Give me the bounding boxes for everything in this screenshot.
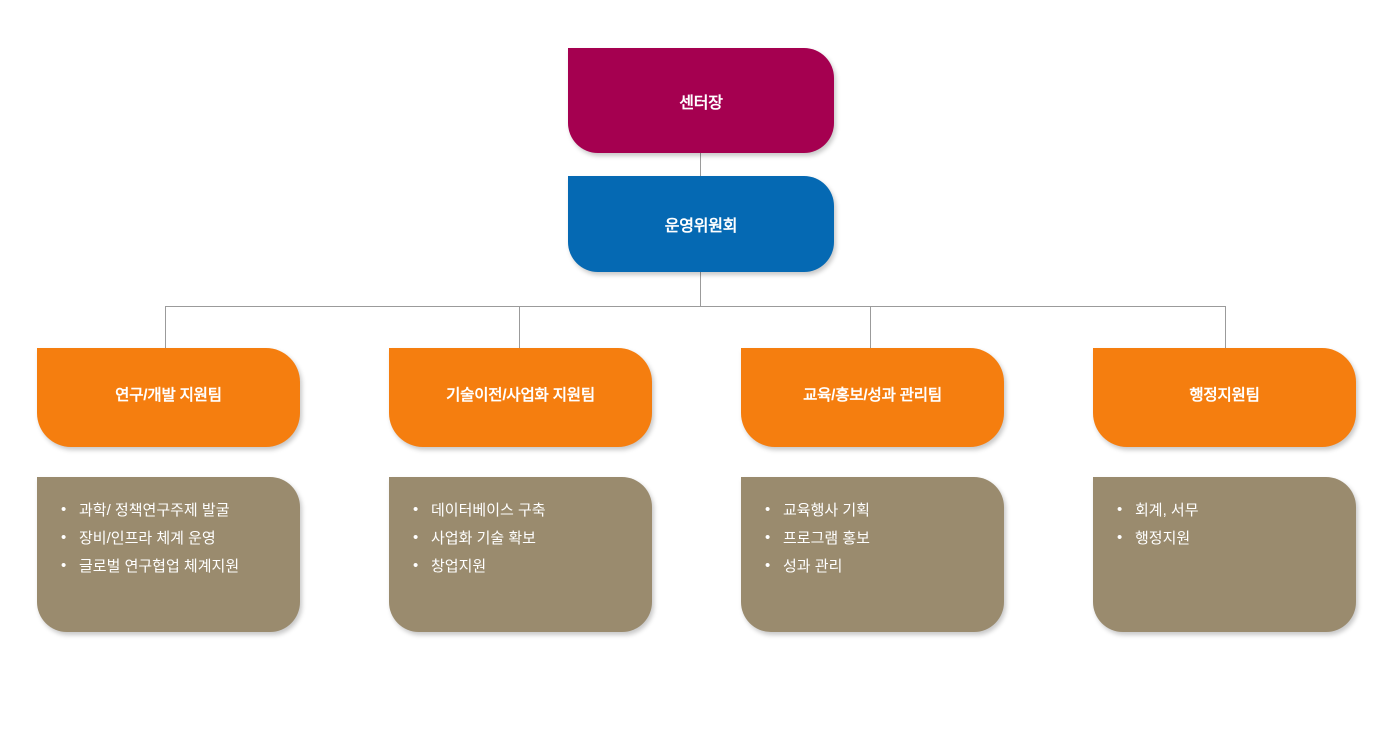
connector-horizontal-bus [165, 306, 1226, 307]
connector-drop-team-2 [519, 306, 520, 349]
list-item: 교육행사 기획 [763, 497, 990, 525]
list-item: 회계, 서무 [1115, 497, 1342, 525]
duty-list: 교육행사 기획 프로그램 홍보 성과 관리 [763, 497, 990, 581]
duty-list: 데이터베이스 구축 사업화 기술 확보 창업지원 [411, 497, 638, 581]
node-team-education-pr-label: 교육/홍보/성과 관리팀 [803, 383, 942, 405]
list-item: 프로그램 홍보 [763, 525, 990, 553]
list-item: 데이터베이스 구축 [411, 497, 638, 525]
duty-list: 회계, 서무 행정지원 [1115, 497, 1342, 553]
list-item: 행정지원 [1115, 525, 1342, 553]
node-team-tech-transfer[interactable]: 기술이전/사업화 지원팀 [389, 348, 652, 447]
list-item: 창업지원 [411, 553, 638, 581]
node-team-administration-label: 행정지원팀 [1189, 383, 1259, 405]
node-team-tech-transfer-label: 기술이전/사업화 지원팀 [446, 383, 595, 405]
list-item: 과학/ 정책연구주제 발굴 [59, 497, 286, 525]
connector-committee-stem [700, 272, 701, 306]
node-committee[interactable]: 운영위원회 [568, 176, 834, 272]
connector-drop-team-1 [165, 306, 166, 349]
list-item: 사업화 기술 확보 [411, 525, 638, 553]
connector-drop-team-3 [870, 306, 871, 349]
node-committee-label: 운영위원회 [665, 212, 738, 236]
node-team-administration[interactable]: 행정지원팀 [1093, 348, 1356, 447]
list-item: 장비/인프라 체계 운영 [59, 525, 286, 553]
node-director[interactable]: 센터장 [568, 48, 834, 153]
list-item: 성과 관리 [763, 553, 990, 581]
duties-panel-education-pr: 교육행사 기획 프로그램 홍보 성과 관리 [741, 477, 1004, 632]
org-chart-canvas: 센터장 운영위원회 연구/개발 지원팀 기술이전/사업화 지원팀 교육/홍보/성… [0, 0, 1400, 750]
node-team-research-label: 연구/개발 지원팀 [115, 383, 222, 405]
list-item: 글로벌 연구협업 체계지원 [59, 553, 286, 581]
node-team-education-pr[interactable]: 교육/홍보/성과 관리팀 [741, 348, 1004, 447]
duty-list: 과학/ 정책연구주제 발굴 장비/인프라 체계 운영 글로벌 연구협업 체계지원 [59, 497, 286, 581]
duties-panel-research: 과학/ 정책연구주제 발굴 장비/인프라 체계 운영 글로벌 연구협업 체계지원 [37, 477, 300, 632]
connector-drop-team-4 [1225, 306, 1226, 349]
duties-panel-administration: 회계, 서무 행정지원 [1093, 477, 1356, 632]
node-team-research[interactable]: 연구/개발 지원팀 [37, 348, 300, 447]
node-director-label: 센터장 [679, 89, 723, 113]
duties-panel-tech-transfer: 데이터베이스 구축 사업화 기술 확보 창업지원 [389, 477, 652, 632]
connector-director-to-committee [700, 152, 701, 176]
